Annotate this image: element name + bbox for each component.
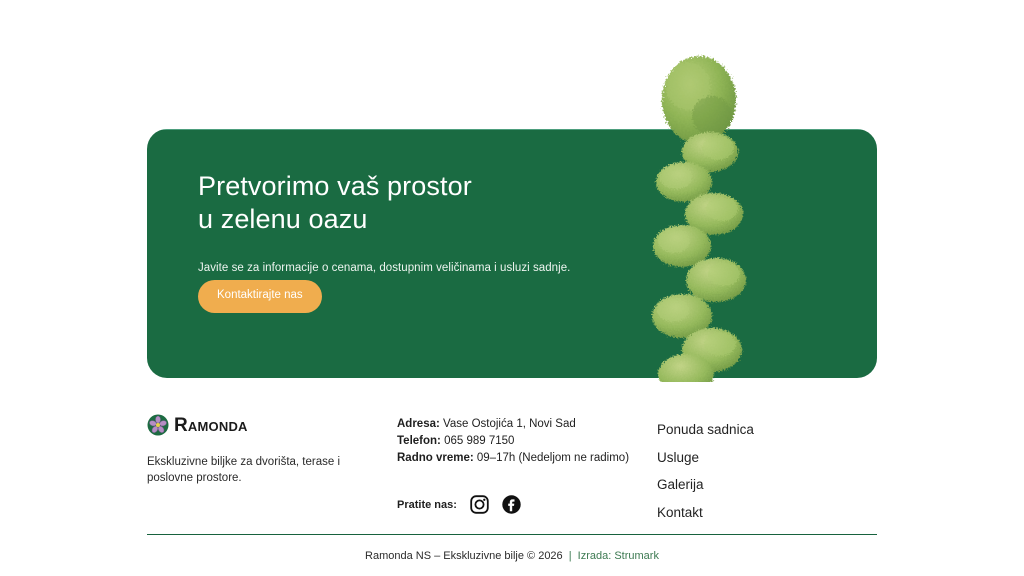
- copyright-separator: |: [566, 550, 575, 562]
- credit-link-wrap: Izrada: Strumark: [578, 550, 659, 562]
- hero-subtitle: Javite se za informacije o cenama, dostu…: [198, 236, 628, 276]
- ramonda-flower-logo-icon: [147, 414, 169, 436]
- footer-nav-column: Ponuda sadnica Usluge Galerija Kontakt: [647, 414, 754, 526]
- credit-link[interactable]: Izrada: Strumark: [578, 550, 659, 562]
- contact-address-line: Adresa: Vase Ostojića 1, Novi Sad: [397, 416, 647, 433]
- footer-brand-column: Ramonda Ekskluzivne biljke za dvorišta, …: [147, 414, 397, 486]
- instagram-icon[interactable]: [470, 495, 489, 514]
- contact-address-value: Vase Ostojića 1, Novi Sad: [443, 418, 576, 430]
- brand-logo[interactable]: Ramonda: [147, 414, 397, 436]
- contact-hours-line: Radno vreme: 09–17h (Nedeljom ne radimo): [397, 450, 647, 467]
- social-row: Pratite nas:: [397, 467, 647, 514]
- nav-link-kontakt[interactable]: Kontakt: [657, 499, 754, 527]
- contact-hours-value: 09–17h (Nedeljom ne radimo): [477, 452, 629, 464]
- contact-phone-value[interactable]: 065 989 7150: [444, 435, 514, 447]
- contact-cta-button[interactable]: Kontaktirajte nas: [198, 280, 322, 313]
- contact-hours-label: Radno vreme:: [397, 452, 474, 464]
- footer-columns: Ramonda Ekskluzivne biljke za dvorišta, …: [147, 414, 877, 526]
- nav-link-usluge[interactable]: Usluge: [657, 444, 754, 472]
- contact-phone-line: Telefon: 065 989 7150: [397, 433, 647, 450]
- footer-contact-column: Adresa: Vase Ostojića 1, Novi Sad Telefo…: [397, 414, 647, 514]
- copyright-bar: Ramonda NS – Ekskluzivne bilje © 2026 | …: [0, 550, 1024, 562]
- facebook-icon[interactable]: [502, 495, 521, 514]
- hero-top-hairline: [147, 129, 877, 130]
- hero-section: Pretvorimo vaš prostor u zelenu oazu Jav…: [147, 129, 877, 378]
- brand-wordmark: Ramonda: [174, 416, 248, 435]
- page-root: Pretvorimo vaš prostor u zelenu oazu Jav…: [0, 0, 1024, 576]
- site-footer: Ramonda Ekskluzivne biljke za dvorišta, …: [0, 400, 1024, 576]
- footer-divider: [147, 534, 877, 535]
- contact-address-label: Adresa:: [397, 418, 440, 430]
- hero-title: Pretvorimo vaš prostor u zelenu oazu: [198, 170, 628, 236]
- brand-description: Ekskluzivne biljke za dvorišta, terase i…: [147, 436, 342, 486]
- nav-link-galerija[interactable]: Galerija: [657, 471, 754, 499]
- copyright-text: Ramonda NS – Ekskluzivne bilje © 2026: [365, 550, 563, 562]
- hero-text-block: Pretvorimo vaš prostor u zelenu oazu Jav…: [198, 170, 628, 276]
- social-label: Pratite nas:: [397, 499, 457, 511]
- nav-link-ponuda-sadnica[interactable]: Ponuda sadnica: [657, 416, 754, 444]
- contact-phone-label: Telefon:: [397, 435, 441, 447]
